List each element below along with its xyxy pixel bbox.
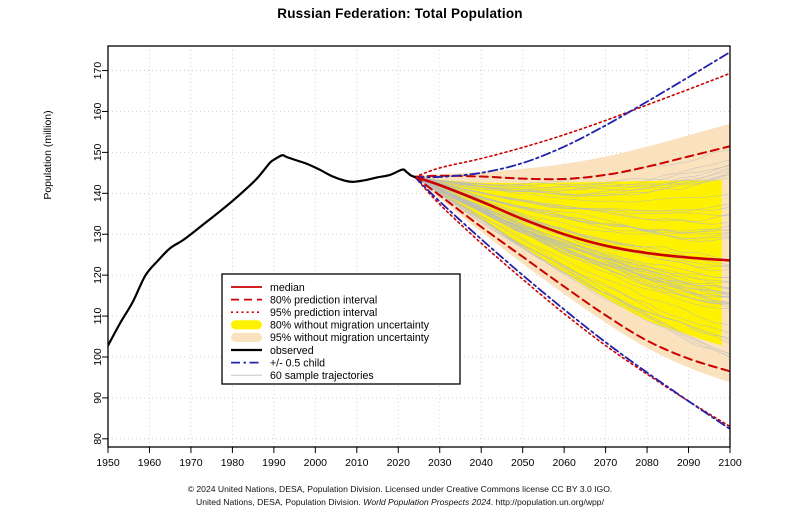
x-tick-label: 2090 [677,457,701,469]
legend-item-label: +/- 0.5 child [270,357,325,369]
x-tick-label: 1970 [179,457,203,469]
footer-publication-title: World Population Prospects 2024 [363,497,491,507]
x-tick-label: 1980 [221,457,245,469]
y-tick-label: 120 [92,266,104,284]
y-tick-label: 170 [92,62,104,80]
x-tick-label: 2100 [718,457,742,469]
footer-line-2-pre: United Nations, DESA, Population Divisio… [196,497,363,507]
x-tick-label: 1960 [138,457,162,469]
x-tick-label: 1990 [262,457,286,469]
x-tick-label: 2050 [511,457,535,469]
y-tick-label: 150 [92,143,104,161]
legend-swatch [231,333,262,342]
y-tick-label: 130 [92,225,104,243]
chart-page: Russian Federation: Total Population Pop… [0,0,800,514]
footer-line-2: United Nations, DESA, Population Divisio… [0,496,800,509]
footer-line-2-post: . http://population.un.org/wpp/ [491,497,604,507]
footer-credit: © 2024 United Nations, DESA, Population … [0,483,800,508]
x-tick-label: 2020 [387,457,411,469]
chart-legend: median80% prediction interval95% predict… [222,274,460,384]
legend-item-label: 60 sample trajectories [270,370,374,382]
x-tick-label: 2040 [470,457,494,469]
legend-item-label: 95% prediction interval [270,307,377,319]
y-tick-label: 90 [92,392,104,404]
x-tick-label: 2000 [304,457,328,469]
legend-item-label: 80% prediction interval [270,294,377,306]
footer-line-1: © 2024 United Nations, DESA, Population … [0,483,800,496]
x-tick-label: 1950 [96,457,120,469]
legend-item-label: 80% without migration uncertainty [270,320,430,332]
y-tick-label: 160 [92,103,104,121]
y-tick-label: 140 [92,184,104,202]
x-tick-label: 2030 [428,457,452,469]
x-tick-label: 2010 [345,457,369,469]
y-tick-label: 110 [92,308,104,325]
x-tick-label: 2080 [635,457,659,469]
legend-item-label: observed [270,345,314,357]
legend-item-label: 95% without migration uncertainty [270,332,430,344]
y-tick-label: 100 [92,348,104,366]
x-tick-label: 2060 [552,457,576,469]
x-tick-label: 2070 [594,457,618,469]
legend-swatch [231,320,262,329]
y-tick-label: 80 [92,433,104,445]
population-projection-chart: 1950196019701980199020002010202020302040… [0,0,800,514]
legend-item-label: median [270,282,305,294]
